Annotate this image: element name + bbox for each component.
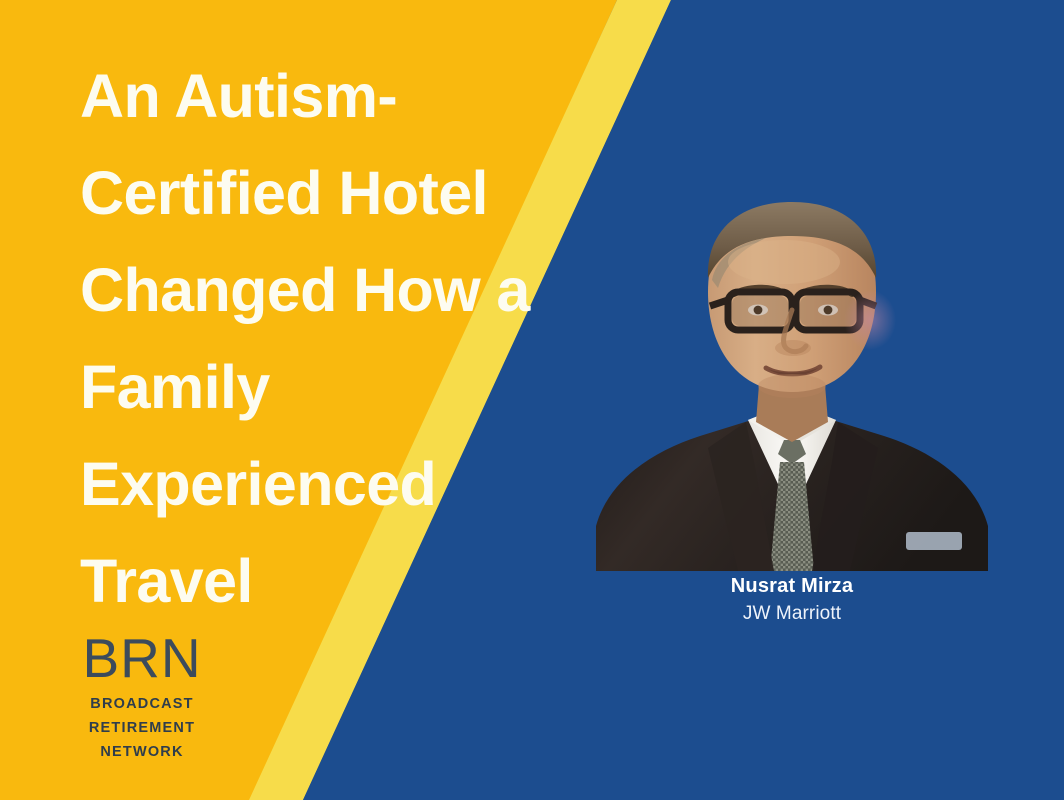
headline-line-3: Changed How a — [80, 242, 600, 339]
headline-line-6: Travel — [80, 533, 600, 630]
speaker-caption: Nusrat Mirza JW Marriott — [588, 572, 996, 627]
promo-card: An Autism- Certified Hotel Changed How a… — [0, 0, 1064, 800]
portrait-illustration — [588, 196, 996, 571]
brn-logo-word-1: BROADCAST — [76, 692, 208, 716]
brn-logo-mark: BRN — [76, 630, 208, 686]
headline-line-5: Experienced — [80, 436, 600, 533]
speaker-name: Nusrat Mirza — [588, 572, 996, 600]
headline-line-1: An Autism- — [80, 48, 600, 145]
brn-logo-wordmark: BROADCAST RETIREMENT NETWORK — [76, 692, 208, 764]
brn-logo-word-3: NETWORK — [76, 740, 208, 764]
light-flare — [844, 290, 896, 350]
page-title: An Autism- Certified Hotel Changed How a… — [80, 48, 600, 630]
headline-line-4: Family — [80, 339, 600, 436]
headline-line-2: Certified Hotel — [80, 145, 600, 242]
speaker-organization: JW Marriott — [588, 600, 996, 627]
guest-portrait-photo — [588, 196, 996, 571]
brn-logo-word-2: RETIREMENT — [76, 716, 208, 740]
brn-logo: BRN BROADCAST RETIREMENT NETWORK — [76, 630, 208, 764]
